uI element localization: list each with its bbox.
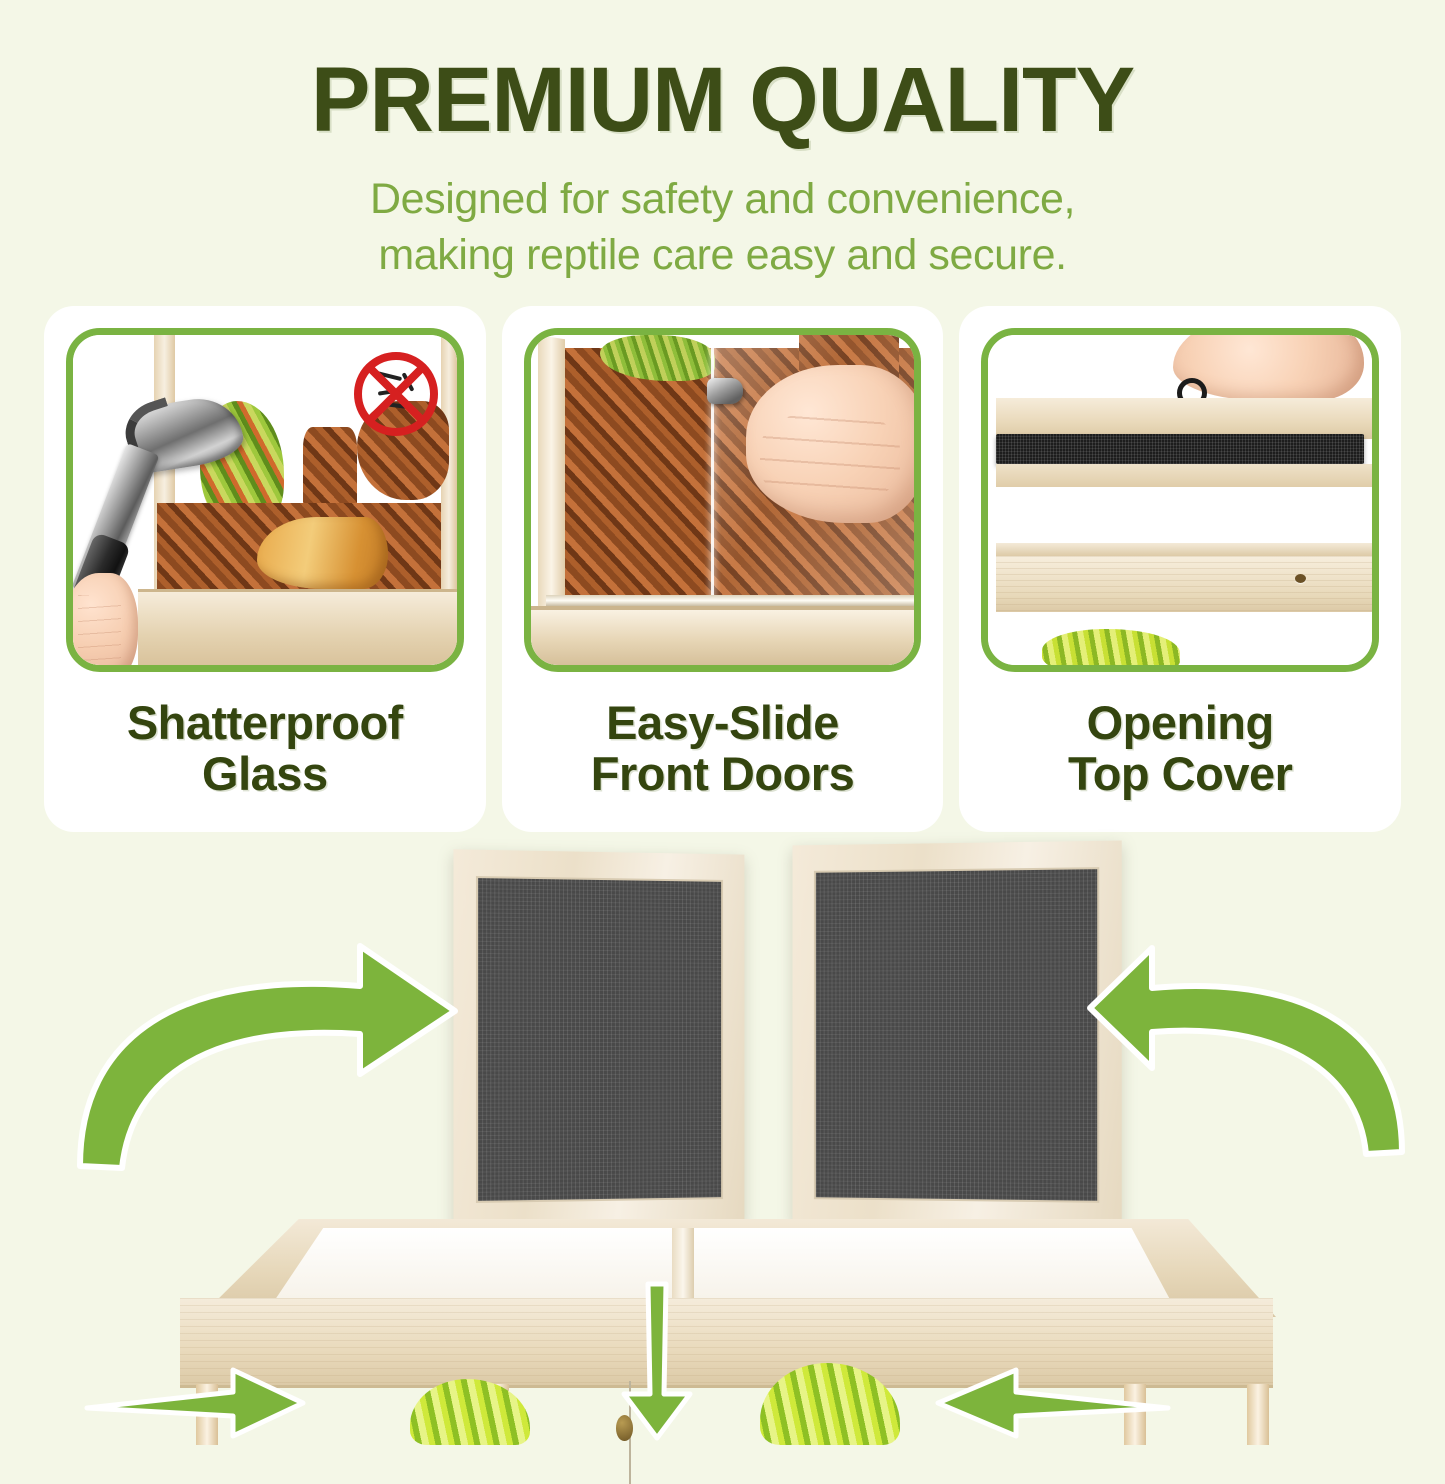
page-title: PREMIUM QUALITY [22,52,1424,149]
arrow-curved-left [60,916,480,1176]
terrarium-leg-right [1247,1384,1269,1445]
easy-slide-doors-photo [524,328,922,672]
opening-top-cover-photo [981,328,1379,672]
arrow-straight-down-icon [612,1282,702,1442]
feature-card-opening-top-cover: Opening Top Cover [959,306,1401,832]
feature-card-easy-slide-front-doors: Easy-Slide Front Doors [502,306,944,832]
terrarium-base-rail [531,606,915,665]
feature-label-opening-top-cover: Opening Top Cover [1068,698,1292,800]
feature-card-shatterproof-glass: Shatterproof Glass [44,306,486,832]
feature-label-line-2: Glass [202,747,328,800]
feature-label-line-1: Easy-Slide [606,696,839,749]
top-panel-right[interactable] [792,841,1121,1230]
terrarium-side-board [996,556,1372,612]
arrow-curved-right [1090,916,1420,1156]
terrarium-upper-rail [996,543,1372,556]
feature-card-list: Shatterproof Glass Easy-Slide Front Door… [44,306,1401,832]
terrarium-top-opening [248,1228,1188,1298]
arrow-straight-right-icon [930,1368,1170,1438]
page-subtitle: Designed for safety and convenience, mak… [0,171,1445,285]
mesh-screen-left [476,876,723,1203]
feature-label-shatterproof-glass: Shatterproof Glass [127,698,403,800]
feature-label-easy-slide-front-doors: Easy-Slide Front Doors [591,698,854,800]
artificial-plant-front-left [410,1379,530,1445]
mesh-screen-right [814,867,1099,1203]
feature-label-line-2: Top Cover [1068,747,1292,800]
door-slide-rail [546,595,914,606]
product-illustration [0,836,1445,1445]
subtitle-line-2: making reptile care easy and secure. [0,227,1445,284]
feature-label-line-1: Shatterproof [127,696,403,749]
top-panel-left[interactable] [453,849,744,1229]
glass-door-edge [711,335,714,606]
arrow-straight-left-icon [85,1368,305,1438]
top-cover-wood-lid [996,398,1372,439]
mesh-screen-strip [996,434,1364,464]
hand-sliding-door [746,365,922,523]
header: PREMIUM QUALITY Designed for safety and … [0,0,1445,284]
shatterproof-glass-photo [66,328,464,672]
subtitle-line-1: Designed for safety and convenience, [0,171,1445,228]
feature-label-line-2: Front Doors [591,747,854,800]
hand-holding-hammer [66,573,138,672]
top-cover-lip [996,464,1372,487]
terrarium-base-rail [138,589,456,665]
door-knob [707,378,743,404]
bearded-dragon [257,517,387,590]
no-crack-prohibition-icon [354,352,438,436]
feature-label-line-1: Opening [1087,696,1274,749]
